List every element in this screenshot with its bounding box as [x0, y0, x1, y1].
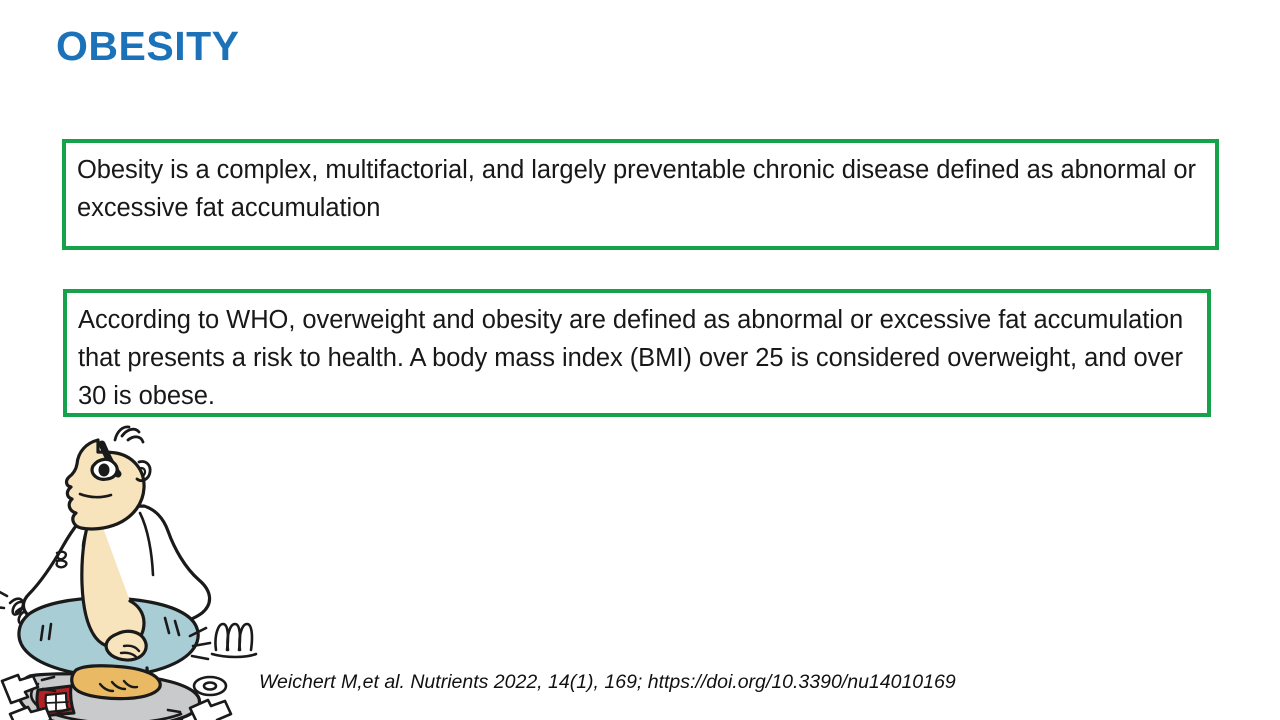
who-statement-box: According to WHO, overweight and obesity…	[63, 289, 1211, 417]
who-statement-text: According to WHO, overweight and obesity…	[78, 301, 1199, 415]
overweight-man-on-broken-scale-icon	[0, 418, 274, 720]
citation-reference: Weichert M,et al. Nutrients 2022, 14(1),…	[259, 670, 956, 694]
slide-canvas: OBESITY Obesity is a complex, multifacto…	[0, 0, 1280, 720]
definition-statement-box: Obesity is a complex, multifactorial, an…	[62, 139, 1219, 250]
definition-statement-text: Obesity is a complex, multifactorial, an…	[77, 151, 1207, 227]
page-title: OBESITY	[56, 21, 239, 71]
